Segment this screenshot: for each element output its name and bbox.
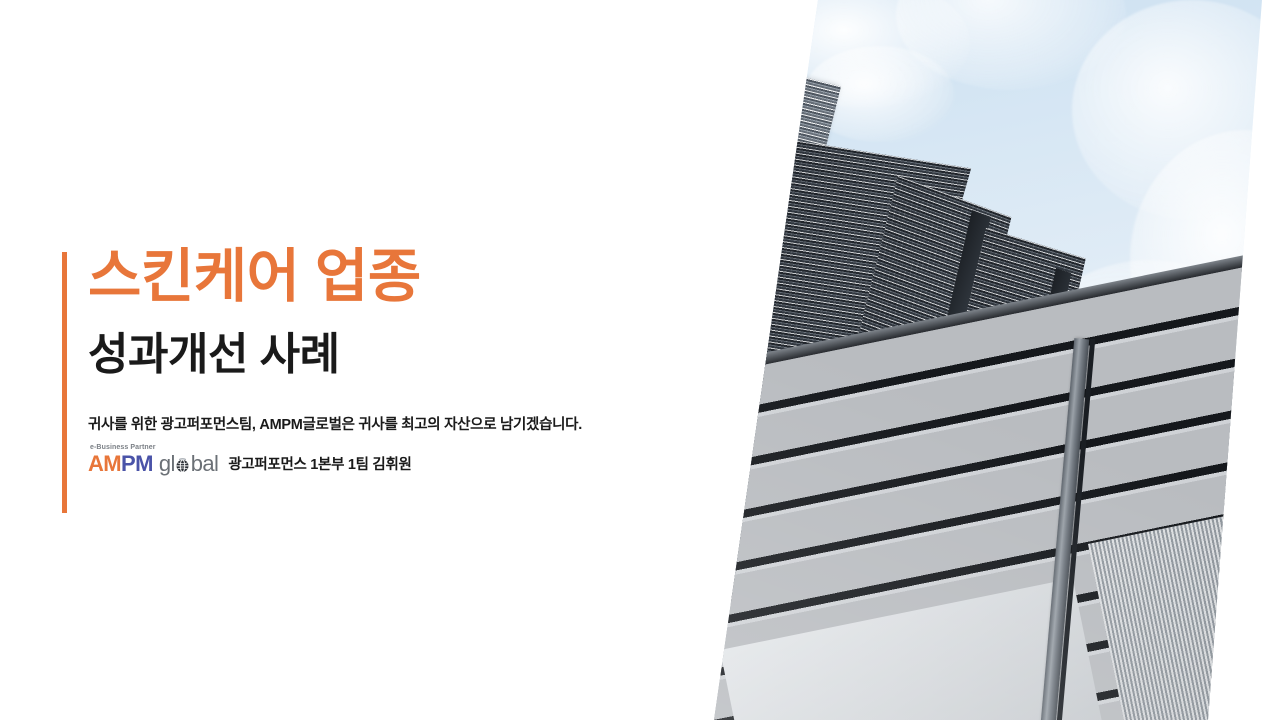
globe-icon: [175, 458, 190, 473]
page-subtitle: 성과개선 사례: [88, 331, 648, 379]
logo-am-text: AM: [88, 453, 121, 475]
credit-row: e-Business Partner AM PM gl: [88, 444, 648, 475]
logo-global-suffix: bal: [191, 453, 219, 475]
page-title: 스킨케어 업종: [88, 246, 648, 309]
photo-sky-background: [700, 0, 1280, 720]
hero-photo: [700, 0, 1280, 720]
logo-global-text: gl bal: [159, 453, 219, 475]
logo-global-prefix: gl: [159, 453, 175, 475]
presentation-slide: 스킨케어 업종 성과개선 사례 귀사를 위한 광고퍼포먼스팀, AMPM글로벌은…: [0, 0, 1280, 720]
presenter-credit: 광고퍼포먼스 1본부 1팀 김휘원: [228, 453, 411, 475]
logo-wordmark: AM PM gl: [88, 453, 218, 475]
title-group: 스킨케어 업종 성과개선 사례 귀사를 위한 광고퍼포먼스팀, AMPM글로벌은…: [88, 246, 648, 475]
orange-accent-bar: [62, 252, 67, 513]
tagline-text: 귀사를 위한 광고퍼포먼스팀, AMPM글로벌은 귀사를 최고의 자산으로 남기…: [88, 413, 648, 434]
logo-kicker-text: e-Business Partner: [90, 444, 156, 451]
ampm-global-logo: e-Business Partner AM PM gl: [88, 444, 218, 475]
logo-pm-text: PM: [121, 453, 153, 475]
